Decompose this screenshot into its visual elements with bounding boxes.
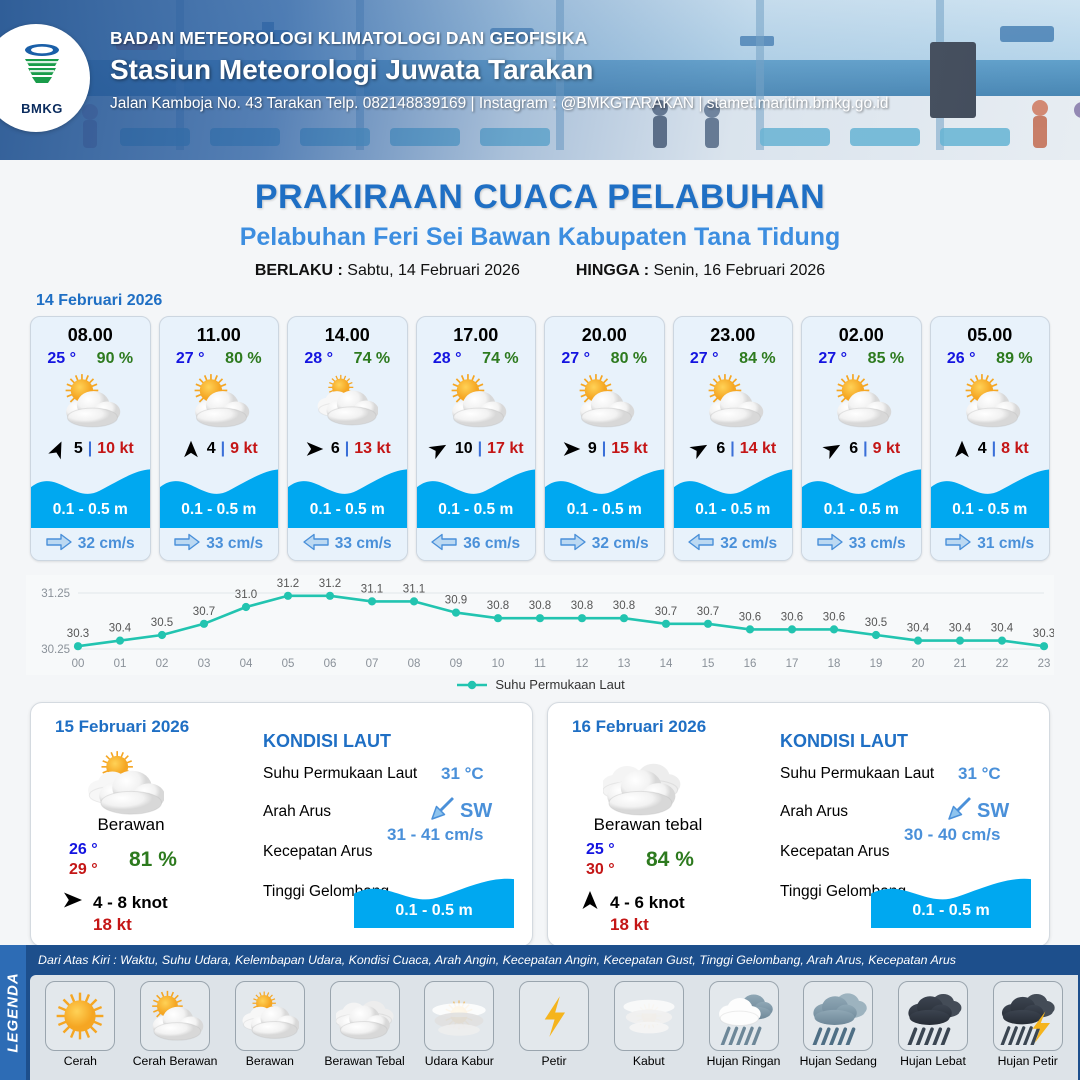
bmkg-logo-mark <box>14 41 70 95</box>
current-direction-arrow-icon <box>46 533 72 556</box>
cerah-berawan-icon <box>931 370 1050 432</box>
sea-row-value: SW <box>460 800 492 823</box>
legend-item-label: Berawan <box>246 1054 294 1068</box>
chart-legend: Suhu Permukaan Laut <box>0 677 1080 692</box>
panel-humidity: 84 % <box>646 848 694 872</box>
svg-text:31.25: 31.25 <box>41 588 70 600</box>
card-current-row: 32 cm/s <box>545 528 664 560</box>
svg-text:31.2: 31.2 <box>319 578 341 590</box>
card-time: 11.00 <box>160 317 279 346</box>
sea-row-value: 31 °C <box>958 764 1001 784</box>
wind-direction-arrow-icon <box>428 438 450 460</box>
panel-temp-max: 30 ° <box>586 861 615 879</box>
card-temperature: 27 ° <box>818 350 847 368</box>
page-title: PRAKIRAAN CUACA PELABUHAN <box>0 178 1080 217</box>
card-time: 05.00 <box>931 317 1050 346</box>
card-wave-block: 0.1 - 0.5 m <box>288 466 407 528</box>
card-current-row: 31 cm/s <box>931 528 1050 560</box>
svg-text:31.0: 31.0 <box>235 589 257 601</box>
wind-separator: | <box>478 440 482 458</box>
wave-height: 0.1 - 0.5 m <box>931 501 1050 519</box>
legend-item: Berawan Tebal <box>318 981 411 1080</box>
card-wind-row: 9 | 15 kt <box>545 432 664 466</box>
wave-height: 0.1 - 0.5 m <box>160 501 279 519</box>
sea-row-label: Arah Arus <box>263 803 331 821</box>
berawan-icon <box>235 981 305 1051</box>
wind-gust: 14 kt <box>740 440 776 458</box>
wind-separator: | <box>863 440 867 458</box>
card-time: 17.00 <box>417 317 536 346</box>
panel-wind-row: 4 - 8 knot <box>61 888 168 917</box>
card-wave-block: 0.1 - 0.5 m <box>417 466 536 528</box>
hourly-card: 23.00 27 ° 84 % 6 | 14 kt 0 <box>673 316 794 561</box>
svg-text:30.7: 30.7 <box>193 606 215 618</box>
svg-text:30.4: 30.4 <box>949 623 972 635</box>
hingga-value: Senin, 16 Februari 2026 <box>653 262 825 279</box>
card-time: 02.00 <box>802 317 921 346</box>
legend-item-label: Hujan Lebat <box>900 1054 966 1068</box>
wind-speed: 4 <box>207 440 216 458</box>
panel-sea-title: KONDISI LAUT <box>780 731 908 752</box>
current-speed: 32 cm/s <box>720 535 777 553</box>
hujan-petir-icon <box>993 981 1063 1051</box>
wind-direction-arrow-icon <box>578 888 602 917</box>
card-time: 14.00 <box>288 317 407 346</box>
wind-gust: 15 kt <box>611 440 647 458</box>
legend-item: Hujan Lebat <box>887 981 980 1080</box>
wind-speed: 6 <box>849 440 858 458</box>
panel-temp-max: 29 ° <box>69 861 98 879</box>
current-direction-sw: SW <box>944 795 1009 828</box>
card-wind-row: 4 | 9 kt <box>160 432 279 466</box>
current-direction-arrow-icon <box>431 533 457 556</box>
current-direction-arrow-icon <box>945 533 971 556</box>
current-speed: 33 cm/s <box>849 535 906 553</box>
hourly-card: 08.00 25 ° 90 % 5 | 10 kt 0 <box>30 316 151 561</box>
legend-item-label: Hujan Petir <box>998 1054 1058 1068</box>
card-wind-row: 10 | 17 kt <box>417 432 536 466</box>
svg-text:30.4: 30.4 <box>109 623 132 635</box>
sea-row-label: Suhu Permukaan Laut <box>780 765 934 783</box>
svg-text:30.3: 30.3 <box>67 628 89 640</box>
card-current-row: 32 cm/s <box>31 528 150 560</box>
svg-text:30.6: 30.6 <box>739 611 761 623</box>
svg-text:30.5: 30.5 <box>151 617 173 629</box>
hourly-card: 14.00 28 ° 74 % 6 | 13 kt <box>287 316 408 561</box>
page-header: BMKG BADAN METEOROLOGI KLIMATOLOGI DAN G… <box>0 0 1080 160</box>
page-subtitle: Pelabuhan Feri Sei Bawan Kabupaten Tana … <box>0 223 1080 252</box>
card-temp-humidity: 27 ° 80 % <box>545 350 664 368</box>
hourly-card: 20.00 27 ° 80 % 9 | 15 kt 0 <box>544 316 665 561</box>
svg-text:19: 19 <box>870 658 883 670</box>
wind-gust: 8 kt <box>1001 440 1029 458</box>
svg-text:30.8: 30.8 <box>571 600 593 612</box>
card-wind-row: 5 | 10 kt <box>31 432 150 466</box>
legend-item: Petir <box>508 981 601 1080</box>
current-direction-arrow-icon <box>688 533 714 556</box>
wind-direction-arrow-icon <box>689 438 711 460</box>
panel-date: 16 Februari 2026 <box>572 717 706 737</box>
card-temperature: 27 ° <box>561 350 590 368</box>
wind-direction-arrow-icon <box>61 888 85 917</box>
sst-chart: 31.2530.2530.30030.40130.50230.70331.004… <box>26 575 1054 675</box>
panel-humidity: 81 % <box>129 848 177 872</box>
legend-tab-label: LEGENDA <box>5 972 22 1052</box>
sea-row-value: 0.1 - 0.5 m <box>871 902 1031 920</box>
card-temp-humidity: 28 ° 74 % <box>417 350 536 368</box>
hourly-card: 17.00 28 ° 74 % 10 | 17 kt <box>416 316 537 561</box>
current-speed: 36 cm/s <box>463 535 520 553</box>
svg-text:31.1: 31.1 <box>403 583 425 595</box>
legend-item: Hujan Petir <box>981 981 1074 1080</box>
card-temperature: 28 ° <box>433 350 462 368</box>
card-time: 08.00 <box>31 317 150 346</box>
wind-direction-arrow-icon <box>951 438 973 460</box>
current-speed: 32 cm/s <box>78 535 135 553</box>
berawan-icon <box>288 370 407 432</box>
cerah-icon <box>45 981 115 1051</box>
legend-item: Kabut <box>602 981 695 1080</box>
cerah-berawan-icon <box>140 981 210 1051</box>
svg-text:30.7: 30.7 <box>697 606 719 618</box>
forecast-day-label: 14 Februari 2026 <box>36 292 1080 310</box>
daily-panels-row: 15 Februari 2026 Berawan 26 ° 29 ° 81 % … <box>0 702 1080 947</box>
svg-text:21: 21 <box>954 658 967 670</box>
svg-text:01: 01 <box>114 658 127 670</box>
sw-arrow-icon <box>427 795 457 828</box>
wind-gust: 9 kt <box>873 440 901 458</box>
wind-separator: | <box>345 440 349 458</box>
svg-text:03: 03 <box>198 658 211 670</box>
panel-gust: 18 kt <box>93 915 132 935</box>
panel-temp-min: 26 ° <box>69 841 98 859</box>
hujan-sedang-icon <box>803 981 873 1051</box>
card-temp-humidity: 27 ° 80 % <box>160 350 279 368</box>
sea-row-value: 0.1 - 0.5 m <box>354 902 514 920</box>
card-temperature: 27 ° <box>690 350 719 368</box>
card-wind-row: 6 | 9 kt <box>802 432 921 466</box>
petir-icon <box>519 981 589 1051</box>
current-speed: 33 cm/s <box>335 535 392 553</box>
wind-speed: 10 <box>455 440 473 458</box>
card-humidity: 74 % <box>482 350 518 368</box>
wind-direction-arrow-icon <box>47 438 69 460</box>
svg-text:30.7: 30.7 <box>655 606 677 618</box>
card-wave-block: 0.1 - 0.5 m <box>674 466 793 528</box>
svg-text:10: 10 <box>492 658 505 670</box>
current-direction-arrow-icon <box>817 533 843 556</box>
svg-text:08: 08 <box>408 658 421 670</box>
wind-speed: 4 <box>978 440 987 458</box>
card-current-row: 32 cm/s <box>674 528 793 560</box>
wind-separator: | <box>88 440 92 458</box>
panel-temp-min: 25 ° <box>586 841 615 859</box>
card-wave-block: 0.1 - 0.5 m <box>31 466 150 528</box>
svg-text:30.9: 30.9 <box>445 595 467 607</box>
udara-kabur-icon <box>424 981 494 1051</box>
daily-forecast-panel: 15 Februari 2026 Berawan 26 ° 29 ° 81 % … <box>30 702 533 947</box>
svg-text:30.5: 30.5 <box>865 617 887 629</box>
sst-chart-svg: 31.2530.2530.30030.40130.50230.70331.004… <box>26 575 1054 675</box>
sea-row-label: Kecepatan Arus <box>263 843 372 861</box>
hourly-forecast-row: 08.00 25 ° 90 % 5 | 10 kt 0 <box>0 316 1080 561</box>
svg-text:00: 00 <box>72 658 85 670</box>
legend-item: Hujan Ringan <box>697 981 790 1080</box>
card-time: 20.00 <box>545 317 664 346</box>
chart-legend-label: Suhu Permukaan Laut <box>495 677 624 692</box>
sea-row-label: Kecepatan Arus <box>780 843 889 861</box>
svg-text:05: 05 <box>282 658 295 670</box>
card-wind-row: 6 | 13 kt <box>288 432 407 466</box>
wind-direction-arrow-icon <box>561 438 583 460</box>
svg-text:31.2: 31.2 <box>277 578 299 590</box>
chart-legend-marker <box>455 679 489 691</box>
current-speed: 32 cm/s <box>592 535 649 553</box>
wind-separator: | <box>730 440 734 458</box>
panel-wind-range: 4 - 8 knot <box>93 893 168 913</box>
wind-direction-arrow-icon <box>180 438 202 460</box>
cerah-berawan-icon <box>674 370 793 432</box>
card-wave-block: 0.1 - 0.5 m <box>160 466 279 528</box>
card-wave-block: 0.1 - 0.5 m <box>545 466 664 528</box>
legend-item: Cerah <box>34 981 127 1080</box>
panel-gust: 18 kt <box>610 915 649 935</box>
berawan-tebal-icon <box>330 981 400 1051</box>
panel-wind-range: 4 - 6 knot <box>610 893 685 913</box>
sea-row-value: SW <box>977 800 1009 823</box>
legend-section: LEGENDA Dari Atas Kiri : Waktu, Suhu Uda… <box>0 945 1080 1080</box>
svg-text:22: 22 <box>996 658 1009 670</box>
svg-text:06: 06 <box>324 658 337 670</box>
sea-row-label: Arah Arus <box>780 803 848 821</box>
sea-row-label: Suhu Permukaan Laut <box>263 765 417 783</box>
wind-speed: 6 <box>331 440 340 458</box>
berlaku-group: BERLAKU : Sabtu, 14 Februari 2026 <box>255 262 520 280</box>
legend-item-label: Cerah <box>64 1054 97 1068</box>
svg-text:15: 15 <box>702 658 715 670</box>
card-current-row: 33 cm/s <box>160 528 279 560</box>
svg-text:12: 12 <box>576 658 589 670</box>
panel-sea-title: KONDISI LAUT <box>263 731 391 752</box>
svg-text:30.6: 30.6 <box>781 611 803 623</box>
panel-temp-group: 26 ° 29 ° <box>69 841 98 879</box>
legend-item-label: Hujan Ringan <box>707 1054 781 1068</box>
card-temperature: 27 ° <box>176 350 205 368</box>
panel-condition: Berawan <box>31 815 231 835</box>
sea-row-value: 31 °C <box>441 764 484 784</box>
svg-text:04: 04 <box>240 658 253 670</box>
cerah-berawan-icon <box>160 370 279 432</box>
contact-info: Jalan Kamboja No. 43 Tarakan Telp. 08214… <box>110 95 889 113</box>
svg-text:30.8: 30.8 <box>529 600 551 612</box>
sea-row-value: 31 - 41 cm/s <box>387 825 483 845</box>
current-speed: 33 cm/s <box>206 535 263 553</box>
berlaku-label: BERLAKU : <box>255 262 343 279</box>
wind-speed: 5 <box>74 440 83 458</box>
legend-item-label: Kabut <box>633 1054 665 1068</box>
card-temp-humidity: 26 ° 89 % <box>931 350 1050 368</box>
legend-item-label: Berawan Tebal <box>324 1054 404 1068</box>
svg-text:18: 18 <box>828 658 841 670</box>
current-direction-arrow-icon <box>174 533 200 556</box>
card-temp-humidity: 27 ° 84 % <box>674 350 793 368</box>
panel-date: 15 Februari 2026 <box>55 717 189 737</box>
wind-gust: 10 kt <box>97 440 133 458</box>
legend-item: Cerah Berawan <box>129 981 222 1080</box>
wind-separator: | <box>602 440 606 458</box>
panel-temp-group: 25 ° 30 ° <box>586 841 615 879</box>
card-temperature: 26 ° <box>947 350 976 368</box>
legend-item: Hujan Sedang <box>792 981 885 1080</box>
bmkg-logo-text: BMKG <box>14 101 70 116</box>
validity-row: BERLAKU : Sabtu, 14 Februari 2026 HINGGA… <box>0 262 1080 280</box>
card-humidity: 89 % <box>996 350 1032 368</box>
hingga-group: HINGGA : Senin, 16 Februari 2026 <box>576 262 825 280</box>
panel-wave-block: 0.1 - 0.5 m <box>871 876 1031 928</box>
card-current-row: 33 cm/s <box>802 528 921 560</box>
wind-separator: | <box>221 440 225 458</box>
wind-direction-arrow-icon <box>304 438 326 460</box>
wind-direction-arrow-icon <box>822 438 844 460</box>
card-temp-humidity: 27 ° 85 % <box>802 350 921 368</box>
svg-text:13: 13 <box>618 658 631 670</box>
svg-text:11: 11 <box>534 658 546 670</box>
cerah-berawan-icon <box>802 370 921 432</box>
daily-forecast-panel: 16 Februari 2026 Berawan tebal 25 ° 30 °… <box>547 702 1050 947</box>
cerah-berawan-icon <box>545 370 664 432</box>
card-current-row: 33 cm/s <box>288 528 407 560</box>
svg-text:30.4: 30.4 <box>907 623 930 635</box>
svg-text:30.4: 30.4 <box>991 623 1014 635</box>
card-humidity: 74 % <box>354 350 390 368</box>
hingga-label: HINGGA : <box>576 262 649 279</box>
card-temp-humidity: 28 ° 74 % <box>288 350 407 368</box>
svg-text:30.8: 30.8 <box>613 600 635 612</box>
svg-text:23: 23 <box>1038 658 1051 670</box>
svg-text:30.6: 30.6 <box>823 611 845 623</box>
card-humidity: 84 % <box>739 350 775 368</box>
card-current-row: 36 cm/s <box>417 528 536 560</box>
agency-name: BADAN METEOROLOGI KLIMATOLOGI DAN GEOFIS… <box>110 28 889 49</box>
wind-gust: 13 kt <box>354 440 390 458</box>
svg-text:14: 14 <box>660 658 673 670</box>
svg-text:17: 17 <box>786 658 799 670</box>
card-wind-row: 6 | 14 kt <box>674 432 793 466</box>
hourly-card: 02.00 27 ° 85 % 6 | 9 kt 0. <box>801 316 922 561</box>
header-text-block: BADAN METEOROLOGI KLIMATOLOGI DAN GEOFIS… <box>110 28 889 113</box>
wind-gust: 17 kt <box>487 440 523 458</box>
legend-item-label: Petir <box>542 1054 567 1068</box>
svg-text:07: 07 <box>366 658 379 670</box>
current-direction-arrow-icon <box>560 533 586 556</box>
legend-item-label: Cerah Berawan <box>133 1054 218 1068</box>
legend-icon-panel: Cerah Cerah Berawan <box>30 975 1078 1080</box>
svg-text:30.25: 30.25 <box>41 644 70 656</box>
card-humidity: 80 % <box>611 350 647 368</box>
card-humidity: 80 % <box>225 350 261 368</box>
card-wave-block: 0.1 - 0.5 m <box>931 466 1050 528</box>
card-time: 23.00 <box>674 317 793 346</box>
card-wave-block: 0.1 - 0.5 m <box>802 466 921 528</box>
kabut-icon <box>614 981 684 1051</box>
legend-item: Berawan <box>223 981 316 1080</box>
hourly-card: 05.00 26 ° 89 % 4 | 8 kt 0. <box>930 316 1051 561</box>
panel-condition: Berawan tebal <box>548 815 748 835</box>
wave-height: 0.1 - 0.5 m <box>802 501 921 519</box>
legend-item-label: Udara Kabur <box>425 1054 494 1068</box>
legend-caption: Dari Atas Kiri : Waktu, Suhu Udara, Kele… <box>38 953 1074 967</box>
berlaku-value: Sabtu, 14 Februari 2026 <box>347 262 520 279</box>
hujan-lebat-icon <box>898 981 968 1051</box>
card-temp-humidity: 25 ° 90 % <box>31 350 150 368</box>
wave-height: 0.1 - 0.5 m <box>674 501 793 519</box>
panel-wind-row: 4 - 6 knot <box>578 888 685 917</box>
current-direction-sw: SW <box>427 795 492 828</box>
card-temperature: 28 ° <box>304 350 333 368</box>
wind-separator: | <box>992 440 996 458</box>
cerah-berawan-icon <box>417 370 536 432</box>
wave-height: 0.1 - 0.5 m <box>417 501 536 519</box>
wave-height: 0.1 - 0.5 m <box>288 501 407 519</box>
legend-item-label: Hujan Sedang <box>800 1054 877 1068</box>
wave-height: 0.1 - 0.5 m <box>545 501 664 519</box>
svg-text:02: 02 <box>156 658 169 670</box>
svg-text:09: 09 <box>450 658 463 670</box>
wind-gust: 9 kt <box>230 440 258 458</box>
card-humidity: 85 % <box>868 350 904 368</box>
station-name: Stasiun Meteorologi Juwata Tarakan <box>110 54 889 86</box>
legend-item: Udara Kabur <box>413 981 506 1080</box>
current-speed: 31 cm/s <box>977 535 1034 553</box>
svg-text:30.8: 30.8 <box>487 600 509 612</box>
hujan-ringan-icon <box>709 981 779 1051</box>
cerah-berawan-icon <box>31 370 150 432</box>
svg-text:30.3: 30.3 <box>1033 628 1054 640</box>
current-direction-arrow-icon <box>303 533 329 556</box>
svg-text:31.1: 31.1 <box>361 583 383 595</box>
hourly-card: 11.00 27 ° 80 % 4 | 9 kt 0. <box>159 316 280 561</box>
sea-row-value: 30 - 40 cm/s <box>904 825 1000 845</box>
svg-text:16: 16 <box>744 658 757 670</box>
svg-text:20: 20 <box>912 658 925 670</box>
panel-wave-block: 0.1 - 0.5 m <box>354 876 514 928</box>
wind-speed: 9 <box>588 440 597 458</box>
card-temperature: 25 ° <box>47 350 76 368</box>
sw-arrow-icon <box>944 795 974 828</box>
legend-tab: LEGENDA <box>0 945 26 1080</box>
card-humidity: 90 % <box>97 350 133 368</box>
wave-height: 0.1 - 0.5 m <box>31 501 150 519</box>
card-wind-row: 4 | 8 kt <box>931 432 1050 466</box>
wind-speed: 6 <box>716 440 725 458</box>
